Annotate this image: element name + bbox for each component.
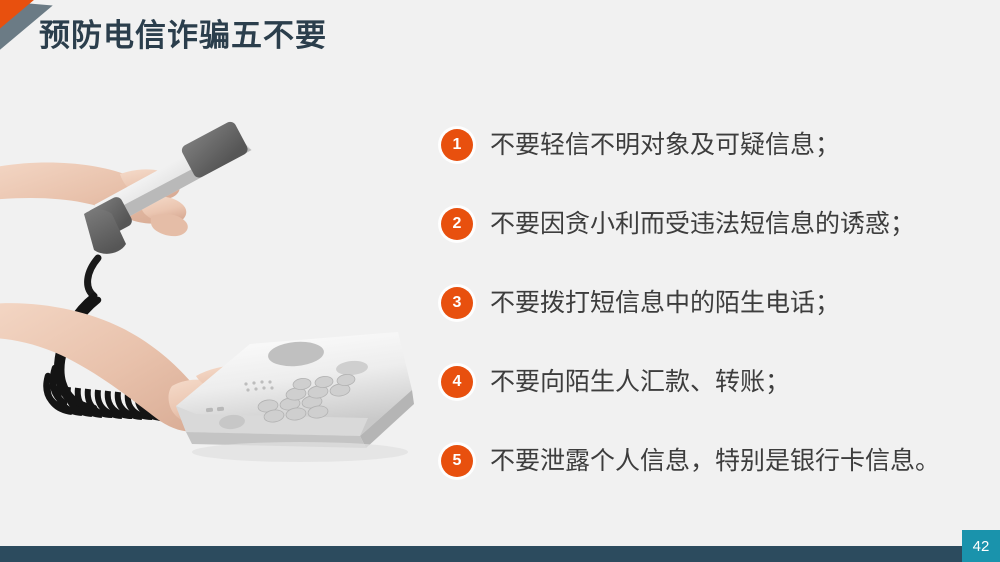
bullet-text: 不要泄露个人信息，特别是银行卡信息。 bbox=[490, 446, 940, 476]
indicator-right bbox=[217, 407, 224, 412]
bullet-number-badge: 1 bbox=[441, 129, 473, 161]
telephone-photo bbox=[0, 118, 430, 493]
bullet-number-badge: 3 bbox=[441, 287, 473, 319]
page-number-badge: 42 bbox=[962, 530, 1000, 562]
slide: 预防电信诈骗五不要 bbox=[0, 0, 1000, 562]
bullet-number-badge: 5 bbox=[441, 445, 473, 477]
bullet-number-badge: 2 bbox=[441, 208, 473, 240]
list-item: 1 不要轻信不明对象及可疑信息； bbox=[441, 122, 981, 168]
bullet-text: 不要因贪小利而受违法短信息的诱惑； bbox=[490, 209, 915, 239]
page-title: 预防电信诈骗五不要 bbox=[39, 17, 327, 56]
list-item: 2 不要因贪小利而受违法短信息的诱惑； bbox=[441, 201, 981, 247]
bottom-bar bbox=[0, 546, 1000, 562]
bullet-text: 不要拨打短信息中的陌生电话； bbox=[490, 288, 840, 318]
bullet-text: 不要轻信不明对象及可疑信息； bbox=[490, 130, 840, 160]
bullet-text: 不要向陌生人汇款、转账； bbox=[490, 367, 790, 397]
list-item: 3 不要拨打短信息中的陌生电话； bbox=[441, 280, 981, 326]
list-item: 5 不要泄露个人信息，特别是银行卡信息。 bbox=[441, 438, 981, 484]
bullet-number-badge: 4 bbox=[441, 366, 473, 398]
base-shadow bbox=[192, 442, 408, 462]
indicator-left bbox=[206, 408, 213, 413]
list-item: 4 不要向陌生人汇款、转账； bbox=[441, 359, 981, 405]
bullet-list: 1 不要轻信不明对象及可疑信息； 2 不要因贪小利而受违法短信息的诱惑； 3 不… bbox=[441, 122, 981, 484]
